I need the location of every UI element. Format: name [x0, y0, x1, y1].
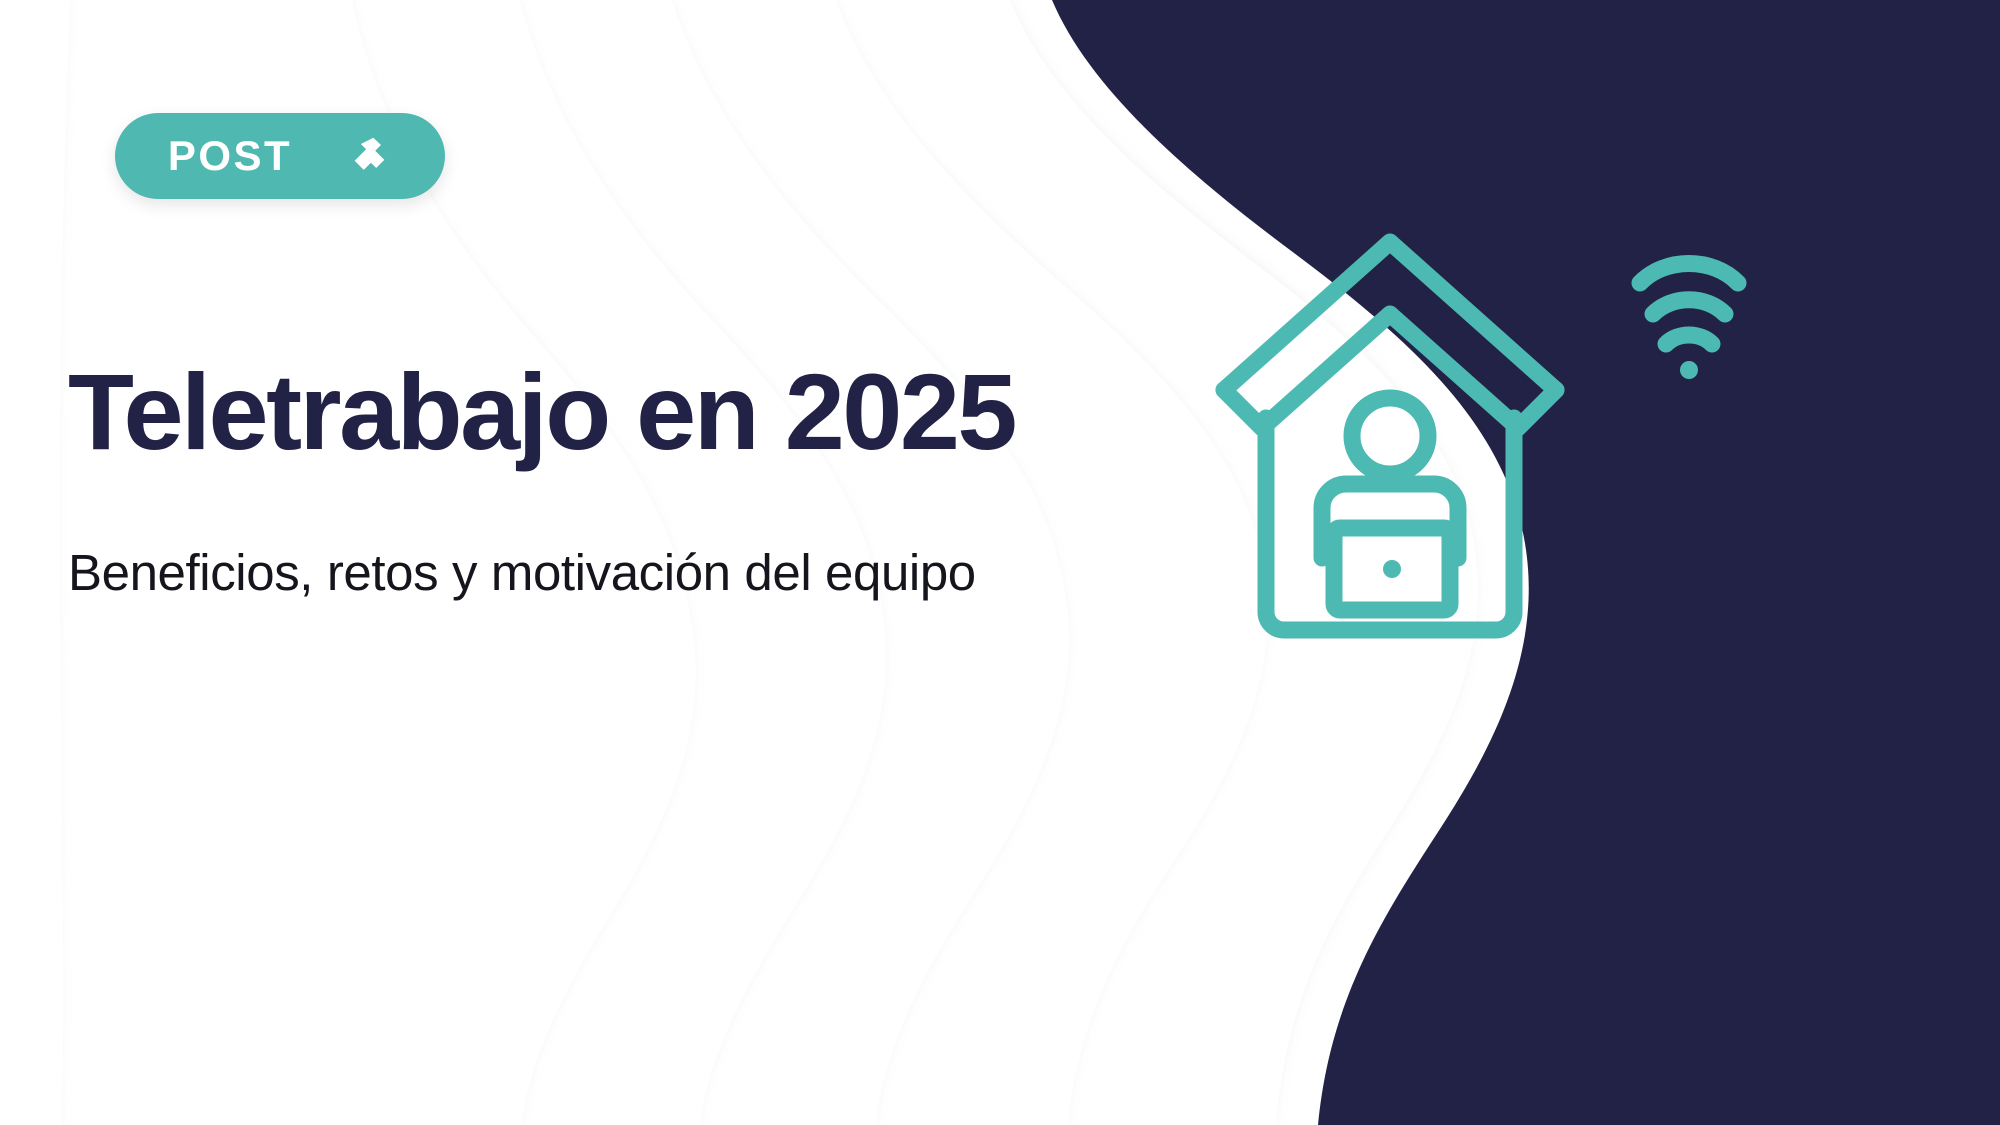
headline-block: Teletrabajo en 2025 Beneficios, retos y … — [68, 355, 1188, 605]
wifi-icon — [1640, 264, 1738, 345]
arrow-up-right-icon — [346, 133, 392, 179]
post-badge-label: POST — [168, 135, 292, 177]
home-office-icon — [1210, 220, 1830, 690]
page-title: Teletrabajo en 2025 — [68, 355, 1188, 469]
home-office-illustration — [1210, 220, 1830, 690]
wifi-dot-icon — [1680, 361, 1698, 379]
laptop-dot-icon — [1383, 560, 1401, 578]
person-head-icon — [1352, 398, 1428, 474]
blog-post-banner: POST Teletrabajo en 2025 Beneficios, ret… — [0, 0, 2000, 1125]
page-subtitle: Beneficios, retos y motivación del equip… — [68, 541, 1188, 605]
post-badge[interactable]: POST — [115, 113, 445, 199]
wave-layer-6 — [0, 0, 70, 1125]
house-roof-inner-icon — [1224, 314, 1556, 428]
